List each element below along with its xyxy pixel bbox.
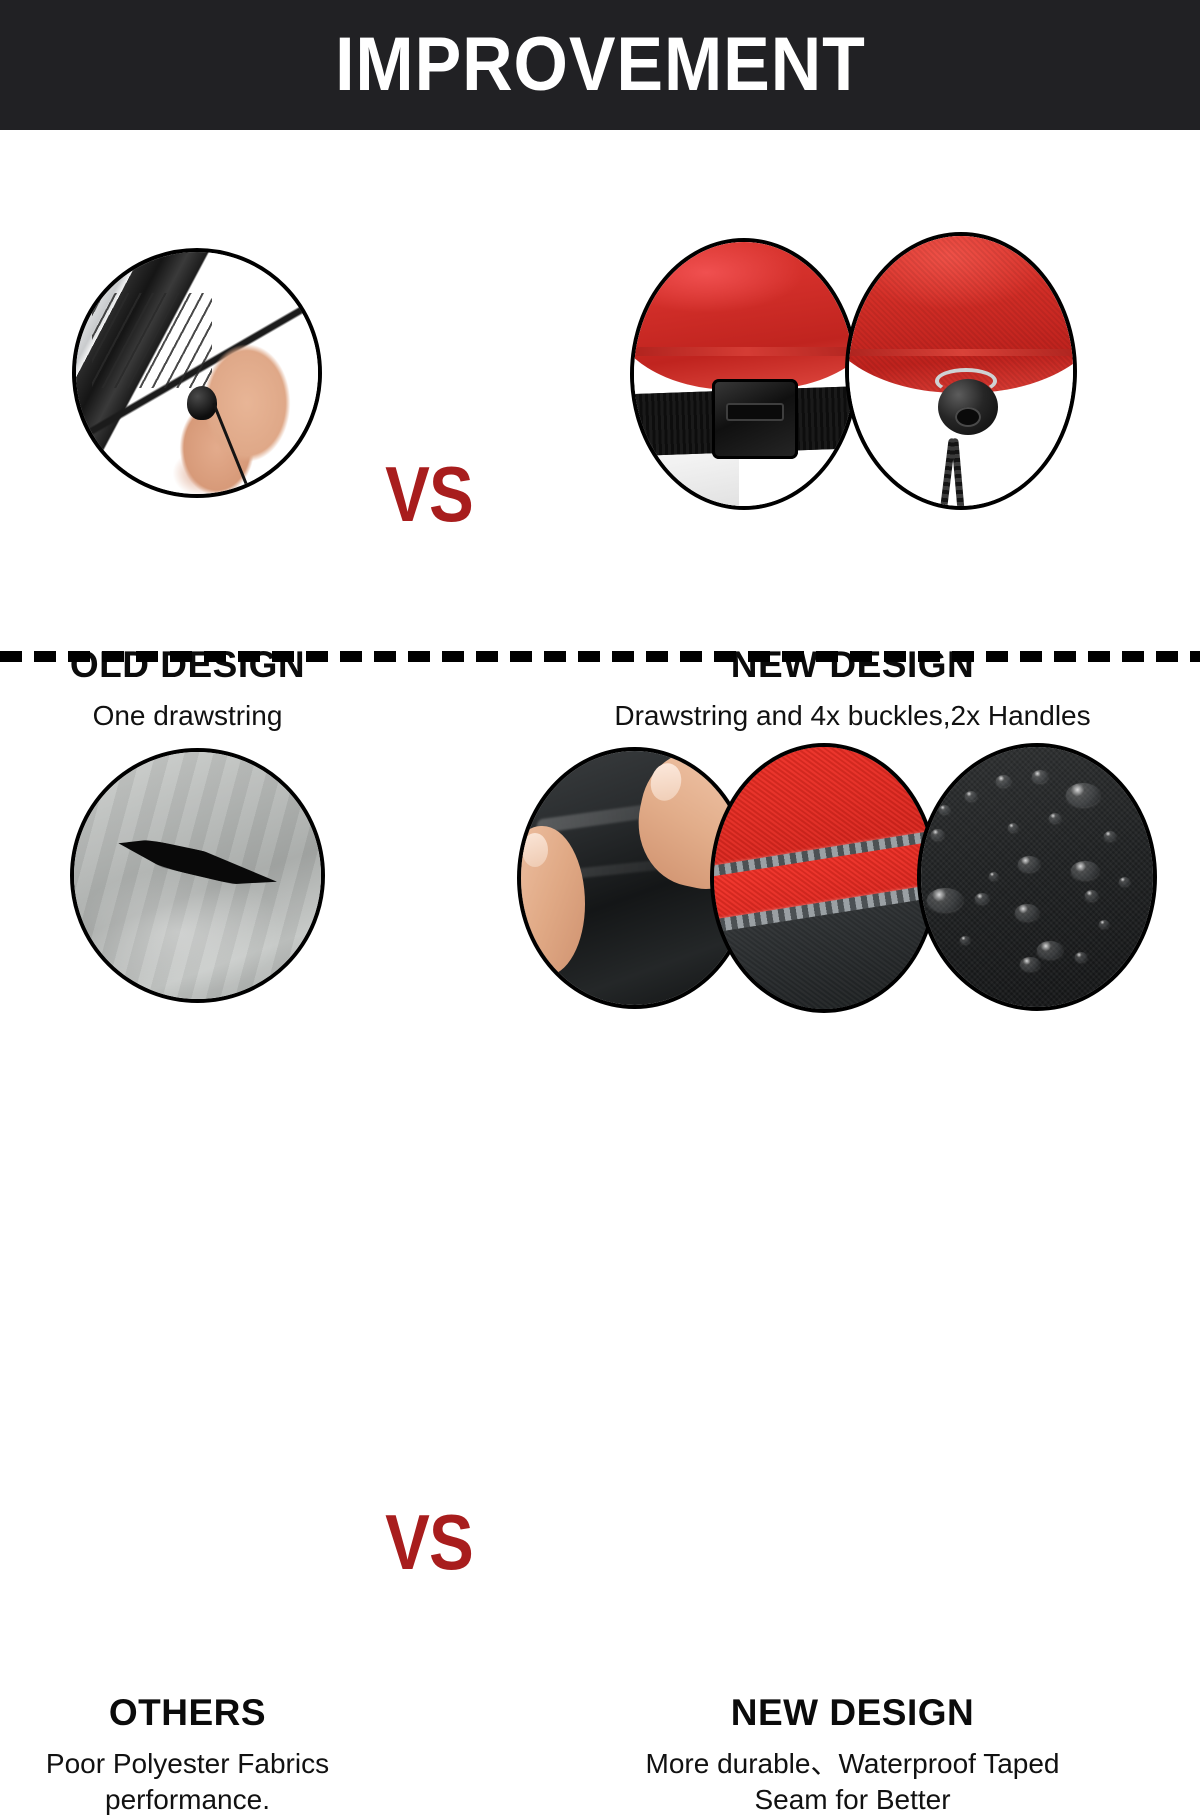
water-droplet [960, 936, 970, 944]
new-cordlock-photo [845, 232, 1077, 510]
vs-badge-row1: VS [385, 455, 473, 533]
water-droplet [996, 775, 1011, 787]
water-droplet [931, 829, 944, 840]
water-droplet [1071, 861, 1099, 880]
water-droplet [1020, 957, 1040, 971]
water-droplet [1066, 783, 1100, 807]
others-subtitle-line2: performance. [105, 1784, 270, 1815]
new-buckle-photo [630, 238, 858, 510]
comparison-row-fabric: OTHERS Poor Polyester Fabrics performanc… [0, 665, 1200, 1200]
page-title: IMPROVEMENT [335, 27, 866, 103]
cord-tail [212, 402, 265, 498]
water-droplet [1015, 904, 1039, 921]
waterproof-beading-photo [917, 743, 1157, 1011]
new-design-subtitle-fabric-line2: Seam for Better [754, 1784, 950, 1815]
others-subtitle-line1: Poor Polyester Fabrics [46, 1748, 329, 1779]
water-droplet [1075, 952, 1087, 962]
fabric-tear [115, 831, 280, 896]
torn-fabric-image [70, 748, 325, 1003]
new-buckle-image [630, 238, 858, 510]
water-droplet [965, 791, 977, 801]
water-droplet [1099, 920, 1109, 928]
new-design-panel-fabric: NEW DESIGN More durable、Waterproof Taped… [505, 665, 1200, 1200]
others-subtitle: Poor Polyester Fabrics performance. [0, 1746, 375, 1817]
water-droplet [1104, 831, 1116, 841]
taped-seam-photo [710, 743, 938, 1013]
water-droplet [1008, 823, 1018, 832]
old-drawstring-image [72, 248, 322, 498]
new-design-panel-drawstring: NEW DESIGN Drawstring and 4x buckles,2x … [505, 130, 1200, 655]
water-droplet [1032, 770, 1048, 783]
water-droplet [1085, 890, 1098, 901]
water-droplet [1049, 813, 1061, 823]
page-header: IMPROVEMENT [0, 0, 1200, 130]
mesh-hem-seam [845, 349, 1077, 356]
water-droplet [1037, 941, 1063, 959]
new-design-title-fabric: NEW DESIGN [505, 1693, 1200, 1734]
new-design-subtitle-fabric: More durable、Waterproof Taped Seam for B… [505, 1746, 1200, 1817]
water-droplet [1119, 877, 1130, 886]
red-hem-seam [630, 347, 858, 356]
comparison-row-drawstring: OLD DESIGN One drawstring VS [0, 130, 1200, 655]
waterproof-beading-image [917, 743, 1157, 1011]
others-title: OTHERS [0, 1693, 375, 1734]
dashed-divider [0, 651, 1200, 662]
buckle-icon [712, 379, 798, 459]
vs-badge-row2: VS [385, 1503, 473, 1581]
water-droplet [939, 805, 950, 814]
drawstring-cord-right [952, 438, 969, 510]
water-droplet [927, 888, 963, 912]
new-design-caption-fabric: NEW DESIGN More durable、Waterproof Taped… [505, 1693, 1200, 1817]
cord-lock-icon [938, 379, 998, 435]
water-droplet [975, 893, 989, 904]
water-droplet [989, 872, 998, 880]
red-cover-fabric [630, 238, 858, 390]
others-caption: OTHERS Poor Polyester Fabrics performanc… [0, 1693, 375, 1817]
taped-seam-image [710, 743, 938, 1013]
left-thumbnail [522, 833, 548, 867]
old-drawstring-photo [72, 248, 322, 498]
new-cordlock-image [845, 232, 1077, 510]
torn-fabric-photo [70, 748, 325, 1003]
infographic-page: IMPROVEMENT OLD DESIGN One drawstring VS [0, 0, 1200, 1200]
old-design-panel: OLD DESIGN One drawstring [0, 130, 375, 655]
water-droplet [1018, 856, 1040, 872]
others-panel: OTHERS Poor Polyester Fabrics performanc… [0, 665, 375, 1200]
fabric-stripe-detail [92, 293, 212, 388]
new-design-subtitle-fabric-line1: More durable、Waterproof Taped [646, 1748, 1060, 1779]
